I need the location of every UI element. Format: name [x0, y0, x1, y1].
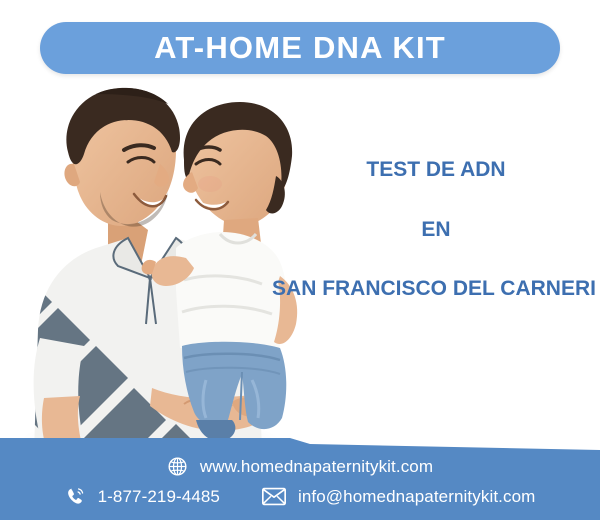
- website-text: www.homednapaternitykit.com: [200, 457, 433, 477]
- headline-line-preposition: EN: [230, 218, 600, 242]
- footer-content: www.homednapaternitykit.com 1-877-219-44…: [0, 430, 600, 520]
- email-text: info@homednapaternitykit.com: [298, 487, 535, 507]
- email-item[interactable]: info@homednapaternitykit.com: [262, 487, 535, 507]
- phone-text: 1-877-219-4485: [98, 487, 220, 507]
- website-item[interactable]: www.homednapaternitykit.com: [167, 456, 433, 477]
- footer-website-row: www.homednapaternitykit.com: [0, 456, 600, 477]
- envelope-icon: [262, 487, 286, 506]
- headline-block: TEST DE ADN EN SAN FRANCISCO DEL CARNERI: [230, 158, 600, 301]
- footer-contact-row: 1-877-219-4485 info@homednapaternitykit.…: [0, 486, 600, 507]
- header-banner: AT-HOME DNA KIT: [40, 22, 560, 74]
- promo-graphic: AT-HOME DNA KIT TEST DE ADN EN SAN FRANC…: [0, 0, 600, 520]
- headline-line-location: SAN FRANCISCO DEL CARNERI: [226, 277, 600, 301]
- phone-icon: [65, 486, 86, 507]
- page-title: AT-HOME DNA KIT: [40, 22, 560, 74]
- headline-line-service: TEST DE ADN: [230, 158, 600, 182]
- footer-bar: www.homednapaternitykit.com 1-877-219-44…: [0, 430, 600, 520]
- phone-item[interactable]: 1-877-219-4485: [65, 486, 220, 507]
- globe-icon: [167, 456, 188, 477]
